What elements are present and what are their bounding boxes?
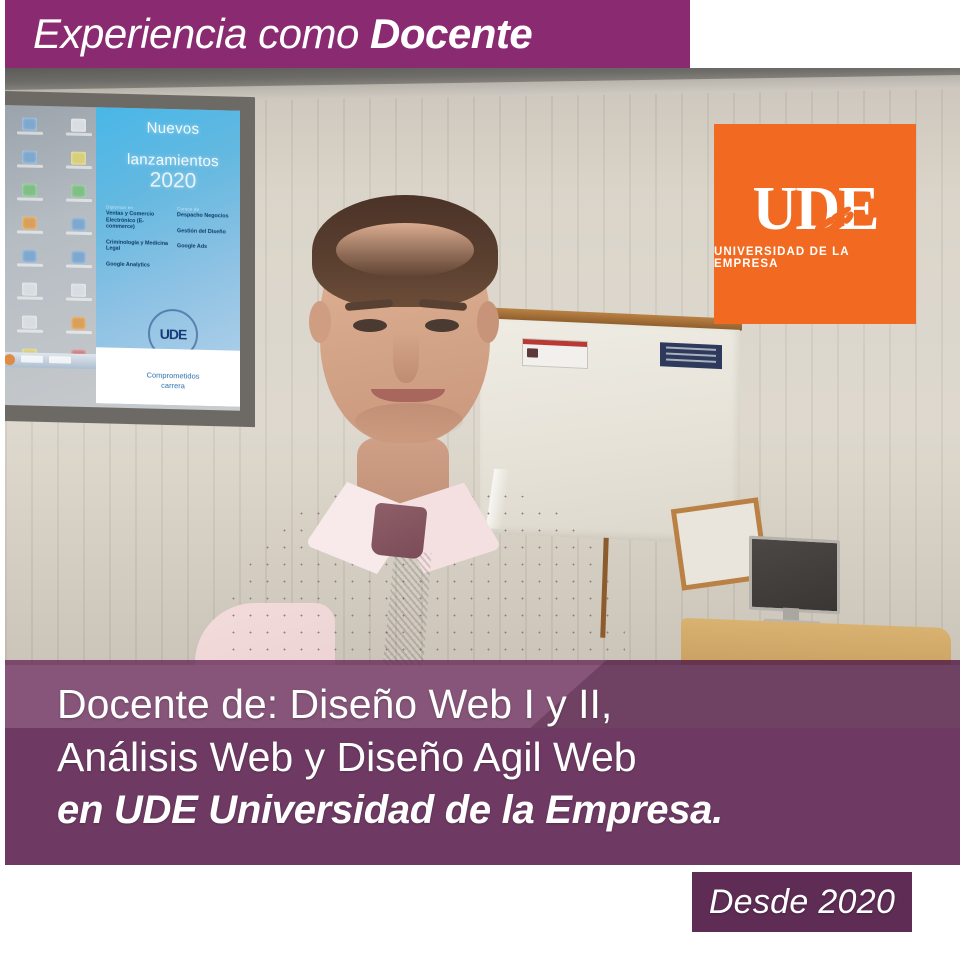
desktop-icon bbox=[6, 313, 53, 345]
desktop-icon bbox=[55, 149, 102, 181]
whiteboard-sign-notice bbox=[660, 342, 722, 369]
ude-logo-letters: UDE bbox=[753, 175, 878, 243]
desktop-icon bbox=[55, 215, 102, 247]
ear-left bbox=[309, 301, 331, 343]
since-badge-label: Desde 2020 bbox=[709, 883, 895, 922]
desktop-icon bbox=[6, 148, 53, 180]
slide-tagline-line2: carrera bbox=[161, 381, 185, 391]
ude-logo-mark: UDE bbox=[753, 179, 878, 239]
slide-tagline-line1: Comprometidos bbox=[147, 370, 200, 380]
desktop-icon bbox=[55, 182, 102, 214]
nose bbox=[393, 333, 419, 383]
computer-desk-area bbox=[681, 508, 960, 665]
eye-right bbox=[425, 319, 459, 332]
caption-line-3: en UDE Universidad de la Empresa. bbox=[57, 784, 960, 837]
page-title-bold: Docente bbox=[370, 10, 532, 57]
page-title: Experiencia como Docente bbox=[5, 11, 532, 57]
promo-card: Nuevos lanzamientos 2020 Diplomas en Ven… bbox=[0, 0, 960, 957]
slide-title-line2: lanzamientos bbox=[96, 135, 240, 171]
desktop-icon bbox=[55, 248, 102, 280]
chin-shadow bbox=[355, 403, 463, 439]
desktop-icon bbox=[6, 280, 53, 312]
desktop-icons bbox=[6, 115, 102, 367]
desktop-icon bbox=[55, 116, 102, 148]
ear-right bbox=[477, 301, 499, 343]
ude-logo: UDE UNIVERSIDAD DE LA EMPRESA bbox=[714, 124, 916, 324]
caption-block: Docente de: Diseño Web I y II, Análisis … bbox=[5, 660, 960, 865]
desktop-icon bbox=[6, 247, 53, 279]
desktop-icon bbox=[6, 181, 53, 213]
desk-top bbox=[681, 618, 951, 665]
since-badge: Desde 2020 bbox=[692, 872, 912, 932]
desktop-icon bbox=[6, 115, 53, 147]
monitor-screen bbox=[749, 536, 840, 615]
slide-title-line1: Nuevos bbox=[96, 105, 240, 139]
header-banner: Experiencia como Docente bbox=[5, 0, 690, 68]
hair bbox=[312, 195, 498, 307]
slide-item: Criminología y Medicina Legal bbox=[106, 239, 169, 254]
ude-logo-subtitle: UNIVERSIDAD DE LA EMPRESA bbox=[714, 246, 916, 270]
caption-line-2: Análisis Web y Diseño Agil Web bbox=[57, 731, 960, 784]
necktie-knot bbox=[370, 502, 427, 559]
desktop-icon bbox=[55, 314, 102, 346]
page-title-regular: Experiencia como bbox=[33, 10, 370, 57]
person-portrait bbox=[205, 173, 625, 665]
desktop-icon bbox=[6, 214, 53, 246]
caption-line-1: Docente de: Diseño Web I y II, bbox=[57, 678, 960, 731]
desktop-icon bbox=[55, 281, 102, 313]
slide-item: Google Analytics bbox=[106, 261, 169, 269]
slide-item: Ventas y Comercio Electrónico (E-commerc… bbox=[106, 210, 169, 231]
eye-left bbox=[353, 319, 387, 332]
